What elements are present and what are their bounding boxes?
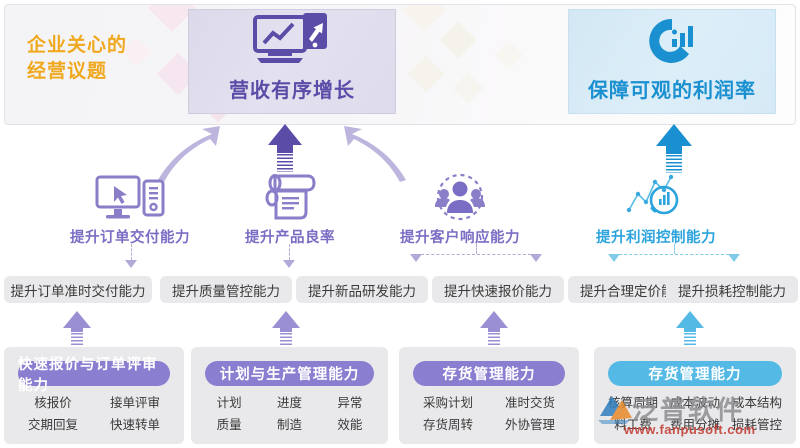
pillar-card-revenue[interactable]: 营收有序增长 bbox=[188, 9, 396, 114]
panel-items-4: 核算周期 成本波动 成本结构 料工费 费用分摊 损耗管控 bbox=[604, 394, 786, 435]
panel-item: 进度 bbox=[277, 394, 302, 413]
arrow-up-panel-4 bbox=[676, 311, 704, 348]
sub-capability-label-1: 提升订单准时交付能力 bbox=[11, 280, 146, 300]
panel-quotation-order-review[interactable]: 快速报价与订单评审能力 核报价 接单评审 交期回复 快速转单 bbox=[4, 347, 184, 444]
monitor-chart-icon bbox=[253, 10, 331, 72]
document-roll-icon bbox=[210, 170, 370, 222]
capability-customer-response[interactable]: 提升客户响应能力 bbox=[380, 170, 540, 247]
users-group-icon bbox=[380, 170, 540, 222]
sub-capability-label-3: 提升新品研发能力 bbox=[308, 280, 416, 300]
panel-item: 损耗管控 bbox=[732, 416, 782, 435]
connector-product-yield bbox=[282, 244, 296, 276]
panel-planning-production[interactable]: 计划与生产管理能力 计划 进度 异常 质量 制造 效能 bbox=[191, 347, 388, 444]
panel-item: 计划 bbox=[217, 394, 242, 413]
desktop-cursor-icon bbox=[50, 170, 210, 222]
panel-item: 异常 bbox=[337, 394, 362, 413]
capability-product-yield[interactable]: 提升产品良率 bbox=[210, 170, 370, 247]
panel-cost-management[interactable]: 存货管理能力 核算周期 成本波动 成本结构 料工费 费用分摊 损耗管控 bbox=[594, 347, 796, 444]
pillar-label-revenue: 营收有序增长 bbox=[229, 74, 355, 103]
panel-items-3: 采购计划 准时交货 存货周转 外协管理 bbox=[409, 394, 569, 435]
panel-item: 准时交货 bbox=[505, 394, 555, 413]
panel-title-1: 快速报价与订单评审能力 bbox=[18, 361, 170, 386]
panel-items-2: 计划 进度 异常 质量 制造 效能 bbox=[201, 394, 378, 435]
panel-item: 采购计划 bbox=[423, 394, 473, 413]
panel-item: 存货周转 bbox=[423, 416, 473, 435]
capability-order-delivery[interactable]: 提升订单交付能力 bbox=[50, 170, 210, 247]
connector-customer-response bbox=[410, 244, 542, 276]
sub-capability-box-6[interactable]: 提升损耗控制能力 bbox=[666, 276, 798, 303]
panel-title-4: 存货管理能力 bbox=[608, 361, 782, 386]
connector-profit-control bbox=[608, 244, 740, 276]
panel-item: 成本结构 bbox=[732, 394, 782, 413]
arrow-up-to-profit bbox=[656, 124, 692, 173]
panel-item: 费用分摊 bbox=[670, 416, 720, 435]
panel-title-3: 存货管理能力 bbox=[413, 361, 565, 386]
panel-title-2: 计划与生产管理能力 bbox=[205, 361, 374, 386]
panel-item: 质量 bbox=[217, 416, 242, 435]
panel-item: 快速转单 bbox=[110, 416, 160, 435]
panel-item: 核报价 bbox=[34, 394, 72, 413]
sub-capability-box-2[interactable]: 提升质量管控能力 bbox=[160, 276, 292, 303]
pillar-label-profit: 保障可观的利润率 bbox=[588, 74, 756, 103]
sub-capability-label-2: 提升质量管控能力 bbox=[172, 280, 280, 300]
page-title: 企业关心的 经营议题 bbox=[27, 33, 127, 85]
sub-capability-label-4: 提升快速报价能力 bbox=[444, 280, 552, 300]
panel-item: 料工费 bbox=[614, 416, 652, 435]
arrow-up-panel-2 bbox=[272, 311, 300, 348]
sub-capability-box-4[interactable]: 提升快速报价能力 bbox=[432, 276, 564, 303]
panel-item: 成本波动 bbox=[670, 394, 720, 413]
sub-capability-box-3[interactable]: 提升新品研发能力 bbox=[296, 276, 428, 303]
arrow-up-panel-1 bbox=[63, 311, 91, 348]
panel-inventory-management[interactable]: 存货管理能力 采购计划 准时交货 存货周转 外协管理 bbox=[399, 347, 579, 444]
arrow-up-panel-3 bbox=[480, 311, 508, 348]
sub-capability-label-6: 提升损耗控制能力 bbox=[678, 280, 786, 300]
panel-item: 交期回复 bbox=[28, 416, 78, 435]
panel-item: 制造 bbox=[277, 416, 302, 435]
diagram-canvas: 企业关心的 经营议题 营收有序增长 bbox=[0, 0, 800, 448]
donut-bar-chart-icon bbox=[642, 10, 702, 72]
panel-item: 接单评审 bbox=[110, 394, 160, 413]
arrow-up-to-revenue bbox=[268, 124, 302, 172]
connector-order-delivery bbox=[124, 244, 138, 276]
panel-item: 外协管理 bbox=[505, 416, 555, 435]
sub-capability-box-1[interactable]: 提升订单准时交付能力 bbox=[4, 276, 152, 303]
panel-item: 核算周期 bbox=[608, 394, 658, 413]
pillar-card-profit[interactable]: 保障可观的利润率 bbox=[568, 9, 776, 114]
magnifier-analytics-icon bbox=[576, 170, 736, 222]
panel-items-1: 核报价 接单评审 交期回复 快速转单 bbox=[14, 394, 174, 435]
capability-profit-control[interactable]: 提升利润控制能力 bbox=[576, 170, 736, 247]
panel-item: 效能 bbox=[337, 416, 362, 435]
